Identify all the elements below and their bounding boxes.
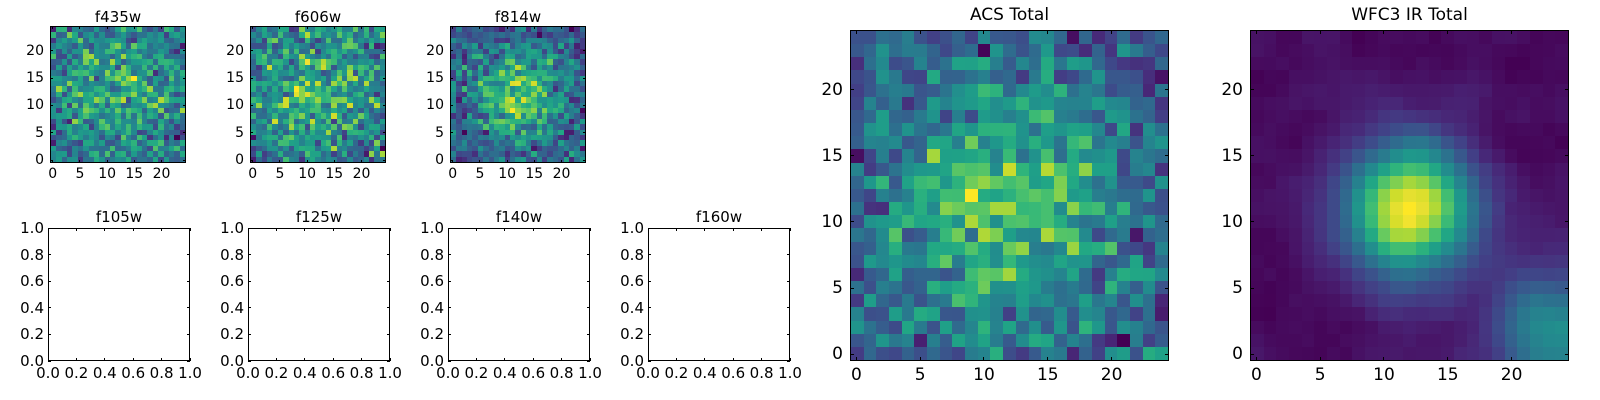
- y-tick-mark-right: [387, 334, 390, 335]
- y-tick-label: 10: [821, 212, 843, 232]
- x-tick-mark: [161, 160, 162, 163]
- y-tick-label: 1.0: [420, 219, 444, 237]
- x-tick-mark-top: [704, 228, 705, 231]
- x-tick-mark-top: [304, 228, 305, 231]
- x-tick-mark: [1511, 357, 1512, 361]
- y-tick-mark-right: [587, 254, 590, 255]
- y-tick-mark: [248, 361, 251, 362]
- x-tick-mark: [704, 358, 705, 361]
- axes-box: [850, 30, 1169, 361]
- y-tick-mark: [648, 307, 651, 308]
- y-tick-label: 0.8: [620, 246, 644, 264]
- x-tick-mark: [561, 358, 562, 361]
- y-tick-mark: [450, 132, 453, 133]
- x-tick-mark-top: [333, 228, 334, 231]
- y-tick-label: 1.0: [220, 219, 244, 237]
- panel-acs-total: ACS Total0510152005101520: [850, 2, 1169, 389]
- x-tick-label: 0.6: [521, 364, 545, 382]
- x-tick-mark: [561, 160, 562, 163]
- panel-title: f105w: [48, 208, 190, 226]
- y-tick-label: 1.0: [20, 219, 44, 237]
- y-tick-label: 0.4: [220, 299, 244, 317]
- y-tick-label: 0: [1232, 344, 1243, 364]
- y-tick-mark: [850, 155, 854, 156]
- y-tick-mark-right: [383, 78, 386, 79]
- y-tick-mark-right: [583, 132, 586, 133]
- y-tick-mark: [250, 132, 253, 133]
- x-tick-mark: [333, 358, 334, 361]
- x-tick-mark-top: [856, 30, 857, 34]
- y-tick-mark-right: [787, 334, 790, 335]
- x-tick-mark-top: [1047, 30, 1048, 34]
- y-tick-label: 0.2: [620, 325, 644, 343]
- y-tick-label: 0.6: [620, 272, 644, 290]
- y-tick-mark: [448, 334, 451, 335]
- y-tick-mark: [50, 78, 53, 79]
- x-tick-label: 15: [125, 166, 143, 182]
- y-tick-mark: [850, 288, 854, 289]
- x-tick-mark: [334, 160, 335, 163]
- y-tick-mark-right: [183, 160, 186, 161]
- y-tick-label: 15: [226, 70, 244, 86]
- x-tick-mark-top: [479, 26, 480, 29]
- panel-f125w: f125w0.00.20.40.60.81.00.00.20.40.60.81.…: [248, 206, 390, 389]
- y-tick-mark-right: [1565, 89, 1569, 90]
- x-tick-label: 0.4: [693, 364, 717, 382]
- y-tick-mark: [48, 281, 51, 282]
- y-tick-mark: [450, 78, 453, 79]
- x-tick-mark-top: [1383, 30, 1384, 34]
- x-tick-mark: [983, 357, 984, 361]
- y-tick-mark-right: [583, 50, 586, 51]
- x-tick-label: 5: [1315, 365, 1326, 385]
- y-tick-mark-right: [387, 307, 390, 308]
- x-tick-label: 10: [1373, 365, 1395, 385]
- y-tick-mark: [450, 160, 453, 161]
- x-tick-label: 0: [448, 166, 457, 182]
- x-tick-mark: [307, 160, 308, 163]
- x-tick-mark-top: [107, 26, 108, 29]
- y-tick-label: 1.0: [620, 219, 644, 237]
- x-tick-mark-top: [52, 26, 53, 29]
- y-tick-mark-right: [383, 50, 386, 51]
- y-tick-mark-right: [583, 78, 586, 79]
- y-tick-label: 0.8: [220, 246, 244, 264]
- x-tick-mark: [276, 358, 277, 361]
- x-tick-mark: [1447, 357, 1448, 361]
- x-tick-label: 20: [353, 166, 371, 182]
- y-tick-label: 5: [235, 125, 244, 141]
- y-tick-mark-right: [1165, 221, 1169, 222]
- y-tick-mark: [248, 334, 251, 335]
- x-tick-mark-top: [79, 26, 80, 29]
- y-tick-mark: [250, 105, 253, 106]
- x-tick-mark-top: [1511, 30, 1512, 34]
- y-tick-label: 10: [26, 97, 44, 113]
- panel-f160w: f160w0.00.20.40.60.81.00.00.20.40.60.81.…: [648, 206, 790, 389]
- y-tick-label: 0: [435, 152, 444, 168]
- y-tick-mark: [48, 228, 51, 229]
- y-tick-mark-right: [583, 105, 586, 106]
- y-tick-mark: [248, 307, 251, 308]
- x-tick-label: 15: [1037, 365, 1059, 385]
- panel-f606w: f606w0510152005101520: [250, 6, 386, 191]
- panel-f140w: f140w0.00.20.40.60.81.00.00.20.40.60.81.…: [448, 206, 590, 389]
- x-tick-label: 0.8: [150, 364, 174, 382]
- heatmap-image: [1251, 31, 1568, 360]
- axes-box: [448, 228, 590, 361]
- x-tick-label: 1.0: [578, 364, 602, 382]
- x-tick-mark-top: [476, 228, 477, 231]
- y-tick-label: 10: [1221, 212, 1243, 232]
- y-tick-mark-right: [587, 281, 590, 282]
- panel-title: f606w: [250, 8, 386, 26]
- x-tick-mark: [107, 160, 108, 163]
- x-tick-label: 5: [915, 365, 926, 385]
- panel-title: f140w: [448, 208, 590, 226]
- x-tick-label: 20: [553, 166, 571, 182]
- y-tick-mark: [1250, 354, 1254, 355]
- x-tick-mark: [161, 358, 162, 361]
- panel-title: f125w: [248, 208, 390, 226]
- x-tick-label: 10: [498, 166, 516, 182]
- x-tick-mark: [1320, 357, 1321, 361]
- y-tick-label: 20: [821, 80, 843, 100]
- y-tick-label: 5: [35, 125, 44, 141]
- y-tick-mark: [50, 105, 53, 106]
- y-tick-mark: [248, 281, 251, 282]
- x-tick-mark-top: [104, 228, 105, 231]
- x-tick-label: 0: [1251, 365, 1262, 385]
- y-tick-label: 15: [821, 146, 843, 166]
- x-tick-label: 5: [75, 166, 84, 182]
- heatmap-image: [451, 27, 585, 162]
- y-tick-label: 0.4: [20, 299, 44, 317]
- y-tick-label: 0.0: [20, 352, 44, 370]
- y-tick-mark-right: [1565, 155, 1569, 156]
- x-tick-mark-top: [76, 228, 77, 231]
- x-tick-mark: [479, 160, 480, 163]
- y-tick-mark-right: [387, 254, 390, 255]
- y-tick-mark-right: [1165, 288, 1169, 289]
- x-tick-mark: [1256, 357, 1257, 361]
- y-tick-label: 20: [1221, 80, 1243, 100]
- y-tick-label: 0.0: [220, 352, 244, 370]
- y-tick-mark: [1250, 155, 1254, 156]
- panel-f435w: f435w0510152005101520: [50, 6, 186, 191]
- x-tick-mark: [134, 160, 135, 163]
- y-tick-mark-right: [787, 361, 790, 362]
- x-tick-mark: [76, 358, 77, 361]
- y-tick-label: 5: [1232, 278, 1243, 298]
- x-tick-mark-top: [507, 26, 508, 29]
- y-tick-mark: [48, 254, 51, 255]
- x-tick-mark: [279, 160, 280, 163]
- y-tick-label: 15: [426, 70, 444, 86]
- y-tick-label: 10: [426, 97, 444, 113]
- y-tick-mark-right: [787, 281, 790, 282]
- x-tick-mark: [79, 160, 80, 163]
- x-tick-mark: [761, 358, 762, 361]
- heatmap-image: [251, 27, 385, 162]
- x-tick-mark: [133, 358, 134, 361]
- x-tick-mark-top: [252, 26, 253, 29]
- y-tick-label: 5: [435, 125, 444, 141]
- x-tick-mark-top: [1111, 30, 1112, 34]
- y-tick-mark-right: [787, 307, 790, 308]
- x-tick-mark-top: [1256, 30, 1257, 34]
- y-tick-label: 15: [26, 70, 44, 86]
- x-tick-label: 0.6: [721, 364, 745, 382]
- y-tick-mark-right: [1565, 354, 1569, 355]
- axes-box: [48, 228, 190, 361]
- y-tick-mark-right: [183, 105, 186, 106]
- x-tick-mark: [361, 160, 362, 163]
- x-tick-mark: [1383, 357, 1384, 361]
- y-tick-mark: [648, 281, 651, 282]
- x-tick-mark-top: [1320, 30, 1321, 34]
- panel-title: f814w: [450, 8, 586, 26]
- x-tick-label: 10: [298, 166, 316, 182]
- y-tick-label: 0: [35, 152, 44, 168]
- y-tick-label: 0.6: [20, 272, 44, 290]
- x-tick-label: 0.2: [464, 364, 488, 382]
- x-tick-label: 15: [525, 166, 543, 182]
- y-tick-mark: [648, 361, 651, 362]
- x-tick-label: 0.2: [64, 364, 88, 382]
- y-tick-mark-right: [383, 160, 386, 161]
- x-tick-label: 0.8: [550, 364, 574, 382]
- y-tick-label: 0.2: [20, 325, 44, 343]
- x-tick-mark-top: [276, 228, 277, 231]
- x-tick-label: 0.2: [264, 364, 288, 382]
- y-tick-mark-right: [183, 78, 186, 79]
- y-tick-mark: [448, 228, 451, 229]
- panel-title: ACS Total: [850, 5, 1169, 25]
- y-tick-mark-right: [183, 132, 186, 133]
- y-tick-mark: [248, 228, 251, 229]
- x-tick-label: 15: [1437, 365, 1459, 385]
- y-tick-mark-right: [383, 132, 386, 133]
- panel-f814w: f814w0510152005101520: [450, 6, 586, 191]
- x-tick-mark-top: [452, 26, 453, 29]
- y-tick-mark: [648, 334, 651, 335]
- y-tick-label: 5: [832, 278, 843, 298]
- x-tick-mark-top: [561, 26, 562, 29]
- y-tick-mark-right: [187, 334, 190, 335]
- y-tick-mark: [850, 221, 854, 222]
- x-tick-label: 5: [475, 166, 484, 182]
- y-tick-label: 0.0: [420, 352, 444, 370]
- y-tick-label: 0.8: [20, 246, 44, 264]
- x-tick-mark: [1111, 357, 1112, 361]
- x-tick-label: 20: [1501, 365, 1523, 385]
- y-tick-mark-right: [1565, 288, 1569, 289]
- x-tick-label: 0.2: [664, 364, 688, 382]
- y-tick-label: 0.6: [420, 272, 444, 290]
- y-tick-mark-right: [187, 228, 190, 229]
- y-tick-mark: [448, 254, 451, 255]
- axes-box: [648, 228, 790, 361]
- axes-box: [50, 26, 186, 163]
- y-tick-mark-right: [387, 281, 390, 282]
- y-tick-mark-right: [1565, 221, 1569, 222]
- y-tick-mark: [250, 50, 253, 51]
- y-tick-mark-right: [383, 105, 386, 106]
- matplotlib-figure: f435w0510152005101520f606w05101520051015…: [0, 0, 1600, 400]
- panel-title: f160w: [648, 208, 790, 226]
- axes-box: [250, 26, 386, 163]
- y-tick-mark-right: [587, 361, 590, 362]
- x-tick-mark-top: [1447, 30, 1448, 34]
- x-tick-label: 20: [153, 166, 171, 182]
- y-tick-mark: [48, 307, 51, 308]
- y-tick-mark: [250, 78, 253, 79]
- x-tick-mark: [533, 358, 534, 361]
- y-tick-label: 0.4: [420, 299, 444, 317]
- x-tick-mark-top: [161, 228, 162, 231]
- y-tick-mark: [850, 354, 854, 355]
- axes-box: [248, 228, 390, 361]
- y-tick-mark-right: [187, 361, 190, 362]
- y-tick-mark: [1250, 288, 1254, 289]
- x-tick-label: 1.0: [778, 364, 802, 382]
- x-tick-label: 1.0: [178, 364, 202, 382]
- x-tick-mark-top: [161, 26, 162, 29]
- x-tick-mark: [856, 357, 857, 361]
- heatmap-image: [851, 31, 1168, 360]
- x-tick-mark: [507, 160, 508, 163]
- x-tick-label: 1.0: [378, 364, 402, 382]
- y-tick-label: 20: [26, 43, 44, 59]
- x-tick-label: 10: [98, 166, 116, 182]
- y-tick-label: 0.4: [620, 299, 644, 317]
- axes-box: [1250, 30, 1569, 361]
- panel-title: WFC3 IR Total: [1250, 5, 1569, 25]
- y-tick-mark-right: [1165, 354, 1169, 355]
- x-tick-mark-top: [361, 26, 362, 29]
- x-tick-mark: [733, 358, 734, 361]
- x-tick-mark: [534, 160, 535, 163]
- axes-box: [450, 26, 586, 163]
- heatmap-image: [51, 27, 185, 162]
- y-tick-mark: [448, 361, 451, 362]
- y-tick-label: 0.6: [220, 272, 244, 290]
- x-tick-mark: [304, 358, 305, 361]
- x-tick-mark-top: [534, 26, 535, 29]
- x-tick-label: 5: [275, 166, 284, 182]
- y-tick-label: 0.0: [620, 352, 644, 370]
- y-tick-mark: [50, 132, 53, 133]
- x-tick-mark: [920, 357, 921, 361]
- y-tick-mark-right: [187, 307, 190, 308]
- y-tick-mark: [50, 50, 53, 51]
- x-tick-mark: [1047, 357, 1048, 361]
- y-tick-label: 20: [426, 43, 444, 59]
- x-tick-label: 0: [48, 166, 57, 182]
- panel-title: f435w: [50, 8, 186, 26]
- x-tick-mark: [104, 358, 105, 361]
- y-tick-mark: [248, 254, 251, 255]
- y-tick-mark-right: [187, 281, 190, 282]
- y-tick-mark: [48, 334, 51, 335]
- y-tick-mark-right: [387, 228, 390, 229]
- y-tick-label: 20: [226, 43, 244, 59]
- y-tick-label: 0.2: [220, 325, 244, 343]
- x-tick-mark-top: [761, 228, 762, 231]
- y-tick-label: 0.8: [420, 246, 444, 264]
- x-tick-label: 0.8: [750, 364, 774, 382]
- y-tick-mark: [1250, 89, 1254, 90]
- y-tick-mark-right: [787, 228, 790, 229]
- x-tick-label: 0.8: [350, 364, 374, 382]
- y-tick-mark: [450, 50, 453, 51]
- y-tick-label: 0: [832, 344, 843, 364]
- x-tick-mark: [676, 358, 677, 361]
- x-tick-mark: [476, 358, 477, 361]
- y-tick-label: 15: [1221, 146, 1243, 166]
- x-tick-mark-top: [133, 228, 134, 231]
- y-tick-mark-right: [787, 254, 790, 255]
- y-tick-mark-right: [183, 50, 186, 51]
- x-tick-label: 20: [1101, 365, 1123, 385]
- y-tick-mark: [48, 361, 51, 362]
- panel-wfc3-ir-total: WFC3 IR Total0510152005101520: [1250, 2, 1569, 389]
- x-tick-mark-top: [983, 30, 984, 34]
- x-tick-mark-top: [361, 228, 362, 231]
- x-tick-mark-top: [279, 26, 280, 29]
- x-tick-mark-top: [561, 228, 562, 231]
- x-tick-label: 10: [973, 365, 995, 385]
- panel-f105w: f105w0.00.20.40.60.81.00.00.20.40.60.81.…: [48, 206, 190, 389]
- y-tick-mark-right: [587, 228, 590, 229]
- x-tick-label: 0.6: [121, 364, 145, 382]
- y-tick-mark-right: [187, 254, 190, 255]
- x-tick-mark: [504, 358, 505, 361]
- x-tick-label: 0: [851, 365, 862, 385]
- y-tick-label: 10: [226, 97, 244, 113]
- y-tick-mark: [648, 228, 651, 229]
- y-tick-mark-right: [587, 334, 590, 335]
- x-tick-mark-top: [733, 228, 734, 231]
- y-tick-mark: [648, 254, 651, 255]
- y-tick-mark-right: [387, 361, 390, 362]
- x-tick-label: 0.4: [293, 364, 317, 382]
- y-tick-mark-right: [1165, 155, 1169, 156]
- y-tick-mark-right: [587, 307, 590, 308]
- x-tick-mark-top: [504, 228, 505, 231]
- x-tick-mark-top: [334, 26, 335, 29]
- x-tick-mark-top: [533, 228, 534, 231]
- x-tick-mark-top: [920, 30, 921, 34]
- x-tick-mark: [361, 358, 362, 361]
- x-tick-label: 0.4: [493, 364, 517, 382]
- y-tick-mark: [1250, 221, 1254, 222]
- y-tick-label: 0.2: [420, 325, 444, 343]
- y-tick-mark: [850, 89, 854, 90]
- x-tick-label: 0.4: [93, 364, 117, 382]
- x-tick-mark-top: [134, 26, 135, 29]
- y-tick-mark: [450, 105, 453, 106]
- y-tick-label: 0: [235, 152, 244, 168]
- x-tick-mark-top: [307, 26, 308, 29]
- x-tick-label: 15: [325, 166, 343, 182]
- y-tick-mark-right: [583, 160, 586, 161]
- y-tick-mark: [250, 160, 253, 161]
- y-tick-mark: [448, 281, 451, 282]
- y-tick-mark-right: [1165, 89, 1169, 90]
- y-tick-mark: [448, 307, 451, 308]
